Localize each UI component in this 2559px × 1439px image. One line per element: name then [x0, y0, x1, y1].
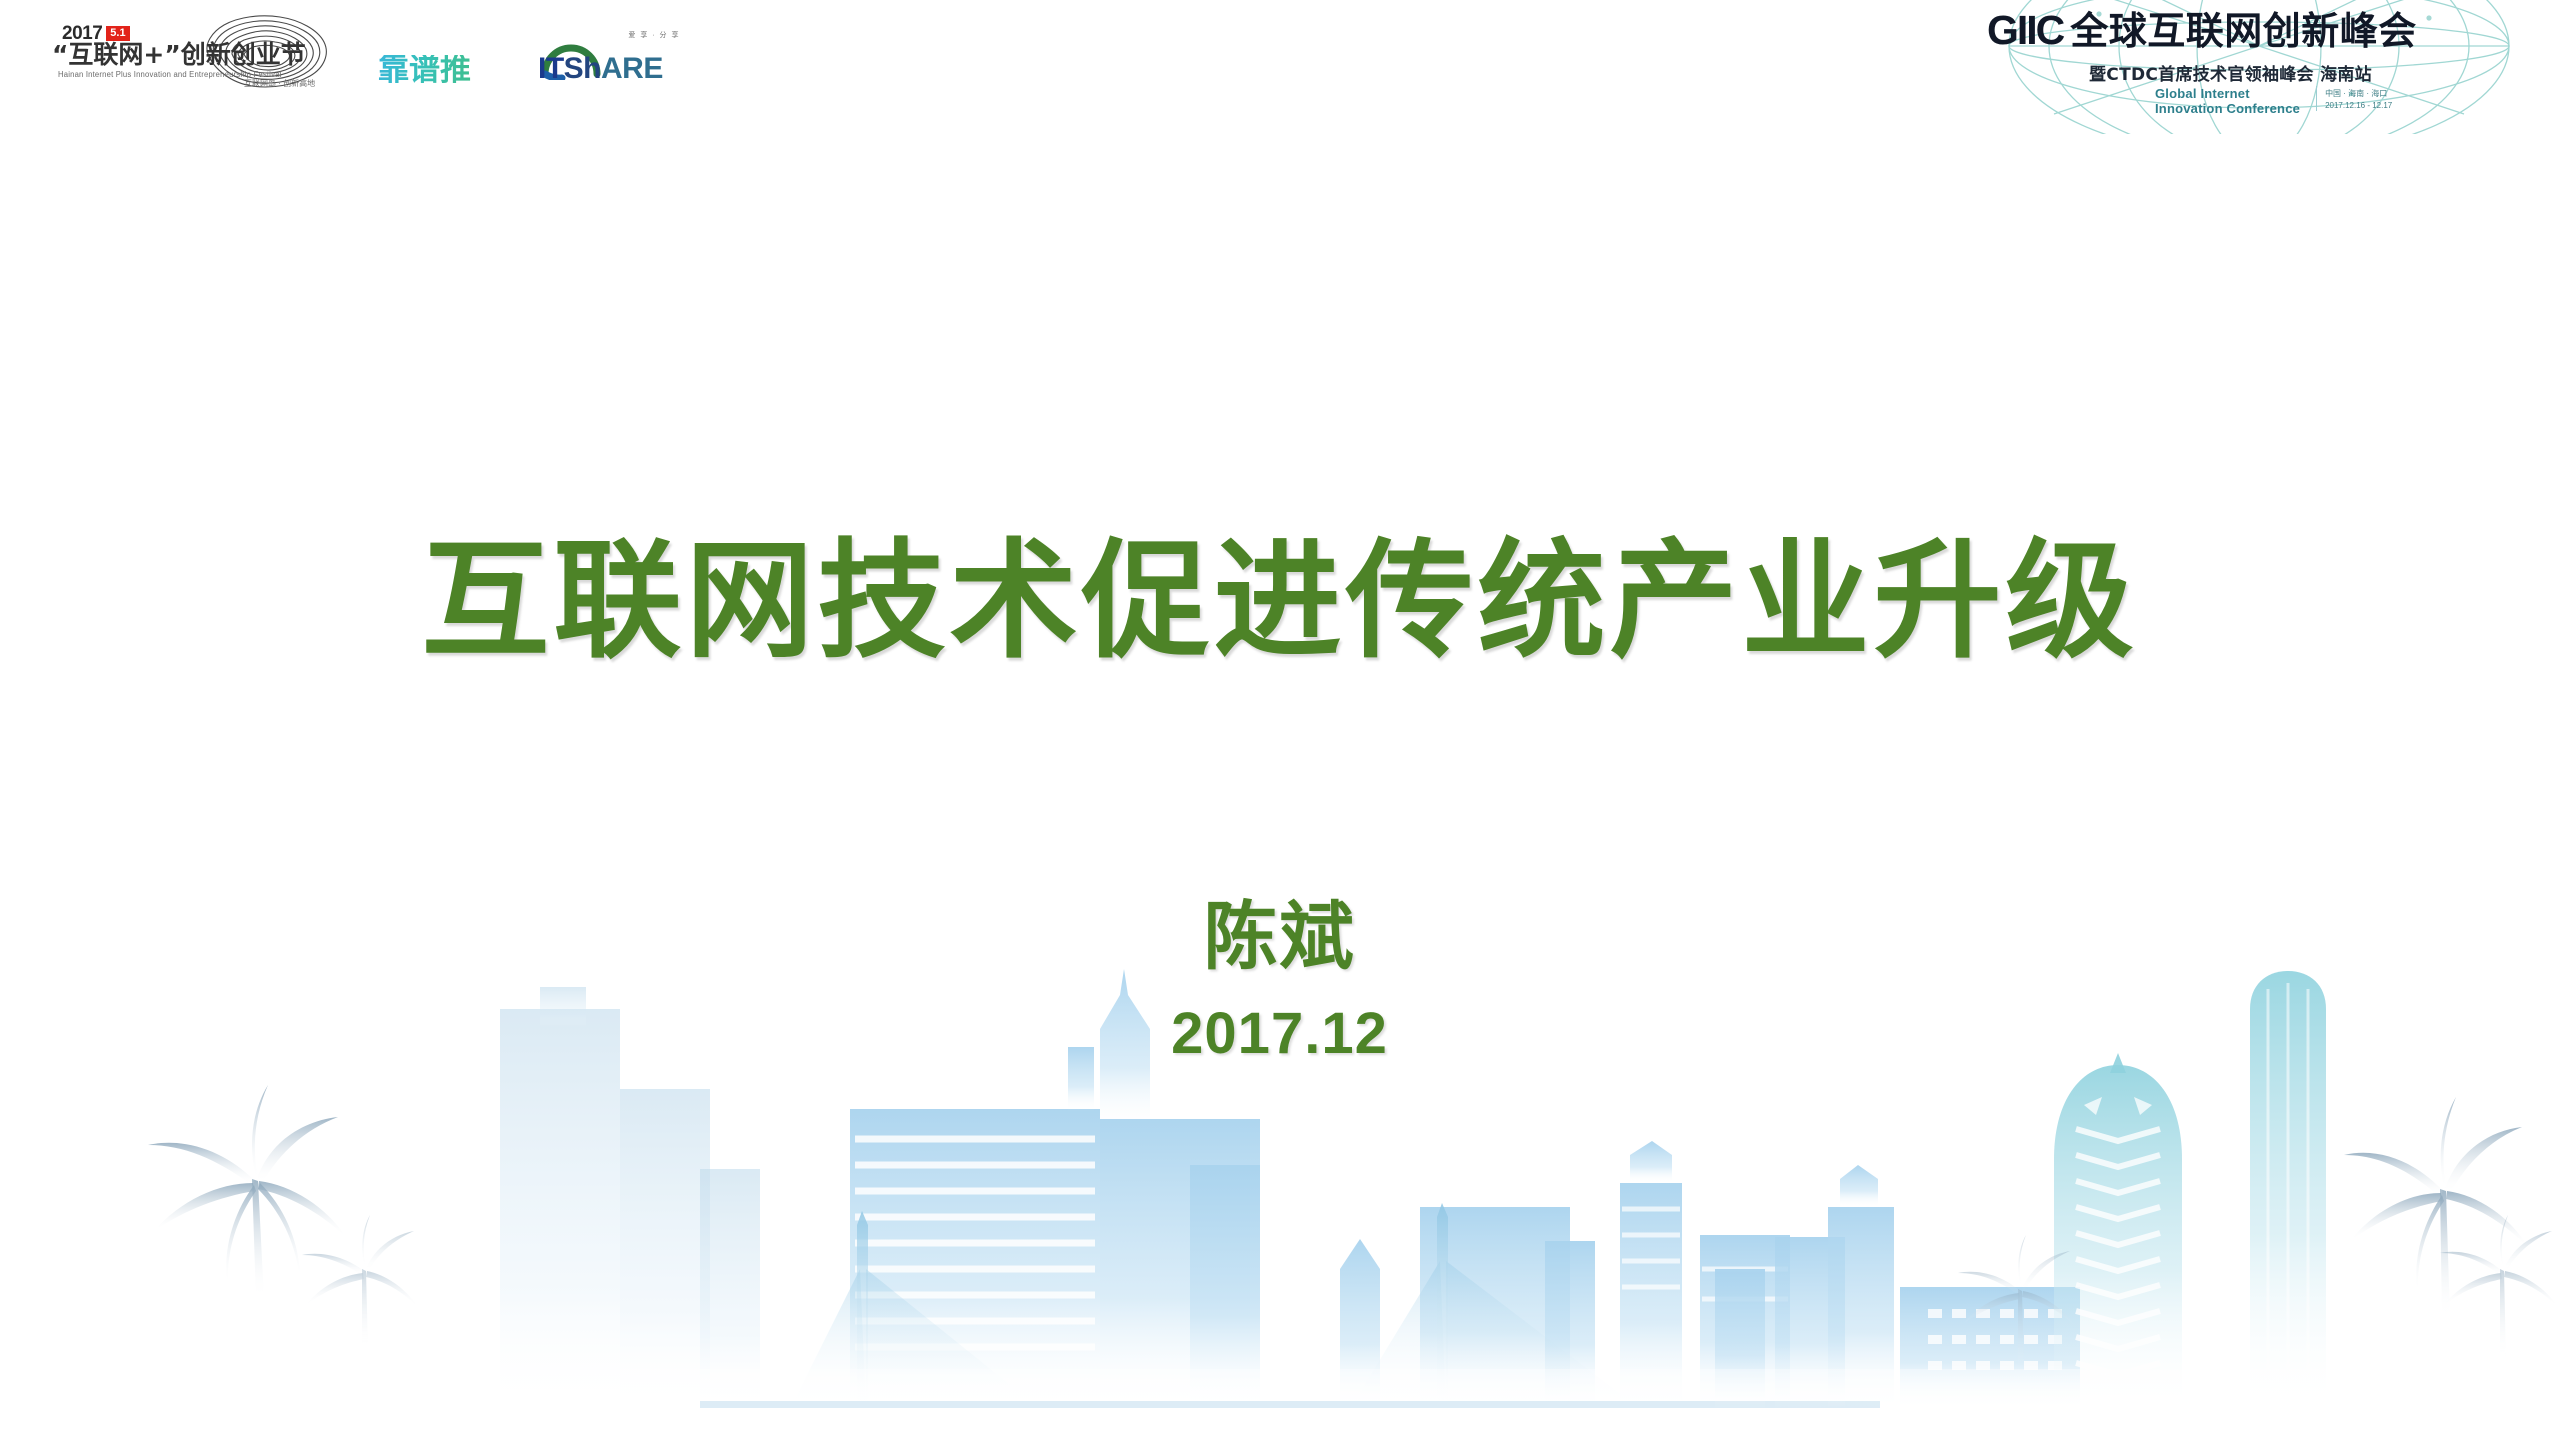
bridge-right	[1350, 1203, 1640, 1409]
presentation-slide: 2017 5.1 “互联网+”创新创业节 Hainan Internet Plu…	[0, 0, 2559, 1439]
itshare-wordmark: ITShARE	[538, 54, 663, 84]
festival-logo: 2017 5.1 “互联网+”创新创业节 Hainan Internet Plu…	[48, 8, 348, 92]
page-title: 互联网技术促进传统产业升级	[0, 538, 2559, 666]
presentation-date: 2017.12	[0, 1005, 2559, 1063]
giic-dates: 2017.12.16 - 12.17	[2325, 100, 2392, 112]
giic-english-row: Global Internet Innovation Conference 中国…	[2155, 86, 2392, 117]
landmark-tower	[2054, 1053, 2182, 1409]
presenter-name: 陈斌	[0, 900, 2559, 974]
festival-title: “互联网+”创新创业节	[52, 42, 306, 67]
palm-tree-right	[2344, 1097, 2528, 1319]
sponsor-logo-strip: 2017 5.1 “互联网+”创新创业节 Hainan Internet Plu…	[48, 8, 686, 92]
itshare-chinese-tag: 爱 享 · 分 享	[628, 30, 680, 40]
giic-conference-logo: GIIC 全球互联网创新峰会 暨CTDC首席技术官领袖峰会 海南站 Global…	[1959, 0, 2559, 134]
bridge-left	[790, 1211, 1040, 1409]
kaopu-wordmark: 靠谱推	[378, 55, 471, 86]
giic-english-line1: Global Internet	[2155, 86, 2300, 101]
giic-english-name: Global Internet Innovation Conference	[2155, 86, 2300, 117]
itshare-word-it: IT	[538, 52, 564, 85]
giic-subtitle-cn: 暨CTDC首席技术官领袖峰会 海南站	[2089, 60, 2372, 85]
giic-wordmark: GIIC	[1987, 10, 2063, 51]
itshare-word-are: ARE	[601, 52, 663, 85]
itshare-word-sh: Sh	[564, 52, 601, 85]
giic-english-line2: Innovation Conference	[2155, 101, 2300, 116]
giic-primary-row: GIIC 全球互联网创新峰会	[1987, 10, 2417, 51]
itshare-logo: ITShARE 爱 享 · 分 享	[536, 8, 686, 92]
palm-tree-left	[148, 1085, 346, 1299]
giic-title-cn: 全球互联网创新峰会	[2070, 12, 2417, 50]
festival-badge: 5.1	[106, 26, 129, 41]
giic-location: 中国 · 海南 · 海口	[2325, 88, 2392, 100]
giic-meta: 中国 · 海南 · 海口 2017.12.16 - 12.17	[2316, 86, 2392, 111]
kaopu-logo: 靠谱推	[378, 8, 506, 92]
festival-subtitle: 互联网岛 · 创新高地	[244, 78, 315, 89]
